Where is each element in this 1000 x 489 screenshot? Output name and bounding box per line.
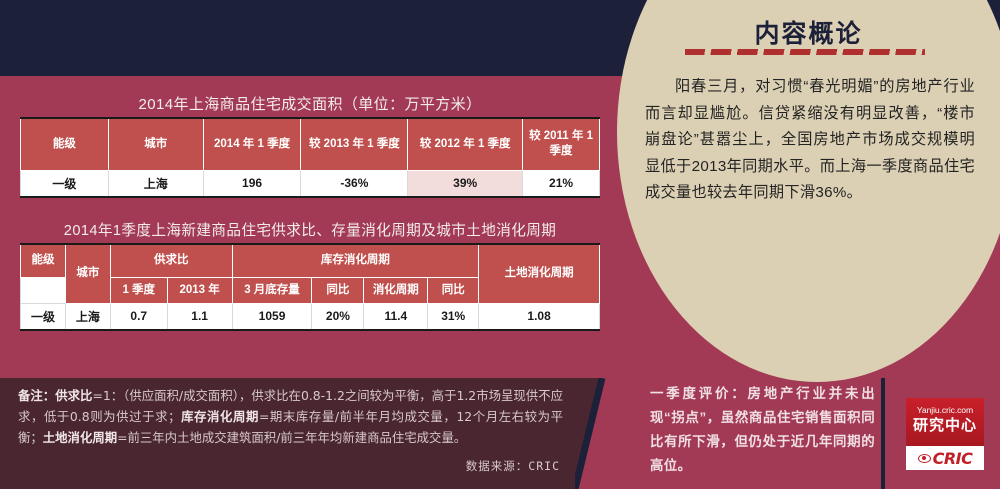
table1-header-row: 能级 城市 2014 年 1 季度 较 2013 年 1 季度 较 2012 年… [21, 118, 600, 170]
commentary-text: 一季度评价：房地产行业并未出现“拐点”，虽然商品住宅销售面积同比有所下滑，但仍处… [650, 382, 875, 478]
table2-cell-grade: 一级 [21, 303, 66, 330]
table2-sub-q1: 1 季度 [110, 277, 167, 303]
table2-sub-stock: 3 月底存量 [232, 277, 312, 303]
table2-blank-cell [21, 277, 66, 303]
table1-cell-2014q1: 196 [203, 170, 301, 197]
summary-panel: 内容概论 阳春三月，对习惯“春光明媚”的房地产行业而言却显尴尬。信贷紧缩没有明显… [617, 0, 1000, 382]
table2-cell-2013: 1.1 [167, 303, 232, 330]
table2-cell-cycle: 11.4 [364, 303, 428, 330]
cric-logo-wordmark: CRIC [933, 449, 973, 468]
table1-col-vs2013: 较 2013 年 1 季度 [301, 118, 408, 170]
table2-cell-stock: 1059 [232, 303, 312, 330]
table1-cell-vs2011: 21% [523, 170, 600, 197]
table2-cell-city: 上海 [65, 303, 110, 330]
notes-label: 备注： [18, 388, 55, 403]
table2-sub-cycle: 消化周期 [364, 277, 428, 303]
table2-col-city: 城市 [65, 244, 110, 303]
table1-cell-vs2012: 39% [408, 170, 523, 197]
table2-col-grade: 能级 [21, 244, 66, 277]
table1-col-grade: 能级 [21, 118, 109, 170]
cric-logo-bottom: CRIC [906, 446, 984, 470]
table1-caption: 2014年上海商品住宅成交面积（单位：万平方米） [20, 93, 600, 114]
table-row: 一级 上海 196 -36% 39% 21% [21, 170, 600, 197]
table-supply-demand: 能级 城市 供求比 库存消化周期 土地消化周期 1 季度 2013 年 3 月底… [20, 243, 600, 331]
table1-cell-vs2013: -36% [301, 170, 408, 197]
notes-seg-3: =前三年内土地成交建筑面积/前三年年均新建商品住宅成交量。 [117, 430, 466, 445]
commentary-box: 一季度评价：房地产行业并未出现“拐点”，虽然商品住宅销售面积同比有所下滑，但仍处… [650, 382, 875, 487]
table2-cell-yoy2: 31% [428, 303, 479, 330]
table2-group-inventory: 库存消化周期 [232, 244, 479, 277]
summary-panel-body: 阳春三月，对习惯“春光明媚”的房地产行业而言却显尴尬。信贷紧缩没有明显改善，“楼… [645, 74, 975, 207]
table1-cell-grade: 一级 [21, 170, 109, 197]
table2-sub-yoy2: 同比 [428, 277, 479, 303]
table2-sub-yoy1: 同比 [312, 277, 364, 303]
cric-logo-cn: 研究中心 [906, 415, 984, 436]
table2-cell-land: 1.08 [479, 303, 600, 330]
table1-col-city: 城市 [108, 118, 203, 170]
table2-group-supply: 供求比 [110, 244, 232, 277]
table2-caption: 2014年1季度上海新建商品住宅供求比、存量消化周期及城市土地消化周期 [20, 219, 600, 240]
table1-col-vs2012: 较 2012 年 1 季度 [408, 118, 523, 170]
table1-col-2014q1: 2014 年 1 季度 [203, 118, 301, 170]
eye-icon [918, 454, 931, 463]
cric-logo[interactable]: Yanjiu.cric.com 研究中心 CRIC [906, 398, 984, 470]
slide-root: 02 触手可及 2014年上海商品住宅成交面积（单位：万平方米） 能级 城市 2… [0, 0, 1000, 489]
table2-header-row-1: 能级 城市 供求比 库存消化周期 土地消化周期 [21, 244, 600, 277]
summary-panel-divider [685, 49, 925, 55]
table2-col-land: 土地消化周期 [479, 244, 600, 303]
table1-cell-city: 上海 [108, 170, 203, 197]
table-row: 一级 上海 0.7 1.1 1059 20% 11.4 31% 1.08 [21, 303, 600, 330]
table1-col-vs2011: 较 2011 年 1 季度 [523, 118, 600, 170]
table2-cell-yoy1: 20% [312, 303, 364, 330]
notes-term-1: 供求比 [55, 388, 92, 403]
notes-term-2: 库存消化周期 [180, 409, 258, 424]
cric-logo-url: Yanjiu.cric.com [906, 398, 984, 415]
table2-sub-2013: 2013 年 [167, 277, 232, 303]
table-transaction-area: 能级 城市 2014 年 1 季度 较 2013 年 1 季度 较 2012 年… [20, 117, 600, 198]
logo-vertical-divider [881, 378, 885, 489]
data-source-label: 数据来源：CRIC [380, 458, 560, 474]
table2-cell-q1: 0.7 [110, 303, 167, 330]
cric-logo-top: Yanjiu.cric.com 研究中心 [906, 398, 984, 446]
summary-panel-title: 内容概论 [617, 14, 1000, 50]
notes-text: 备注：供求比=1：（供应面积/成交面积），供求比在0.8-1.2之间较为平衡，高… [18, 385, 563, 448]
notes-term-3: 土地消化周期 [43, 430, 117, 445]
